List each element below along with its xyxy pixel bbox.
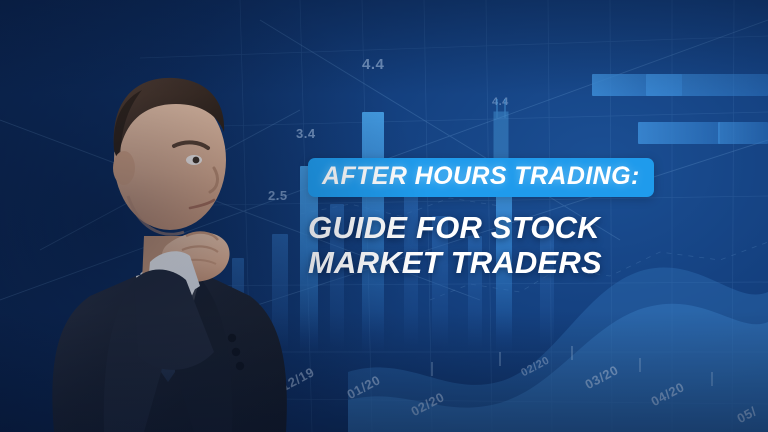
page-title-line-1: GUIDE FOR STOCK <box>308 211 748 246</box>
headline-highlight: AFTER HOURS TRADING: <box>308 158 654 197</box>
banner-root: 2.5 3.4 4.4 4.4 12/19 01/20 02/20 02/20 … <box>0 0 768 432</box>
page-title: GUIDE FOR STOCK MARKET TRADERS <box>308 211 748 280</box>
headline-highlight-text: AFTER HOURS TRADING: <box>322 164 640 189</box>
page-title-line-2: MARKET TRADERS <box>308 246 748 281</box>
title-block: AFTER HOURS TRADING: GUIDE FOR STOCK MAR… <box>308 158 748 280</box>
businessman-photo <box>18 0 318 432</box>
